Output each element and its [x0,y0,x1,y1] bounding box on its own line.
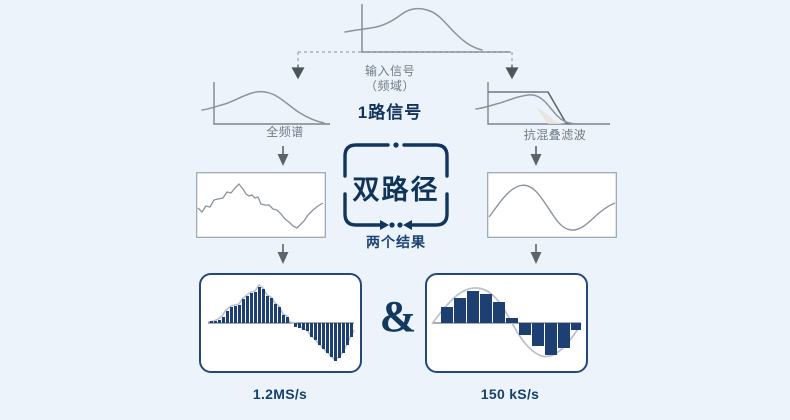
arrow-right-top [527,146,545,168]
sine-waveform-preview [487,172,617,238]
arrow-left-top [274,146,292,168]
anti-alias-caption: 抗混叠滤波 [480,128,630,143]
noisy-waveform-preview [196,172,326,238]
dual-path-title: 双路径 [336,168,456,207]
split-connector [285,44,525,82]
anti-alias-filter-chart [470,80,660,132]
high-rate-result [198,272,363,374]
ampersand-joiner: & [378,295,418,339]
full-spectrum-caption: 全频谱 [215,125,355,140]
arrow-left-bottom [274,244,292,266]
high-rate-label: 1.2MS/s [210,386,350,402]
dual-path-subtitle: 两个结果 [336,232,456,252]
low-rate-result [424,272,589,374]
diagram-canvas: 输入信号 （频域） 1路信号 全频谱 [0,0,790,420]
low-rate-label: 150 kS/s [440,386,580,402]
arrow-right-bottom [527,244,545,266]
